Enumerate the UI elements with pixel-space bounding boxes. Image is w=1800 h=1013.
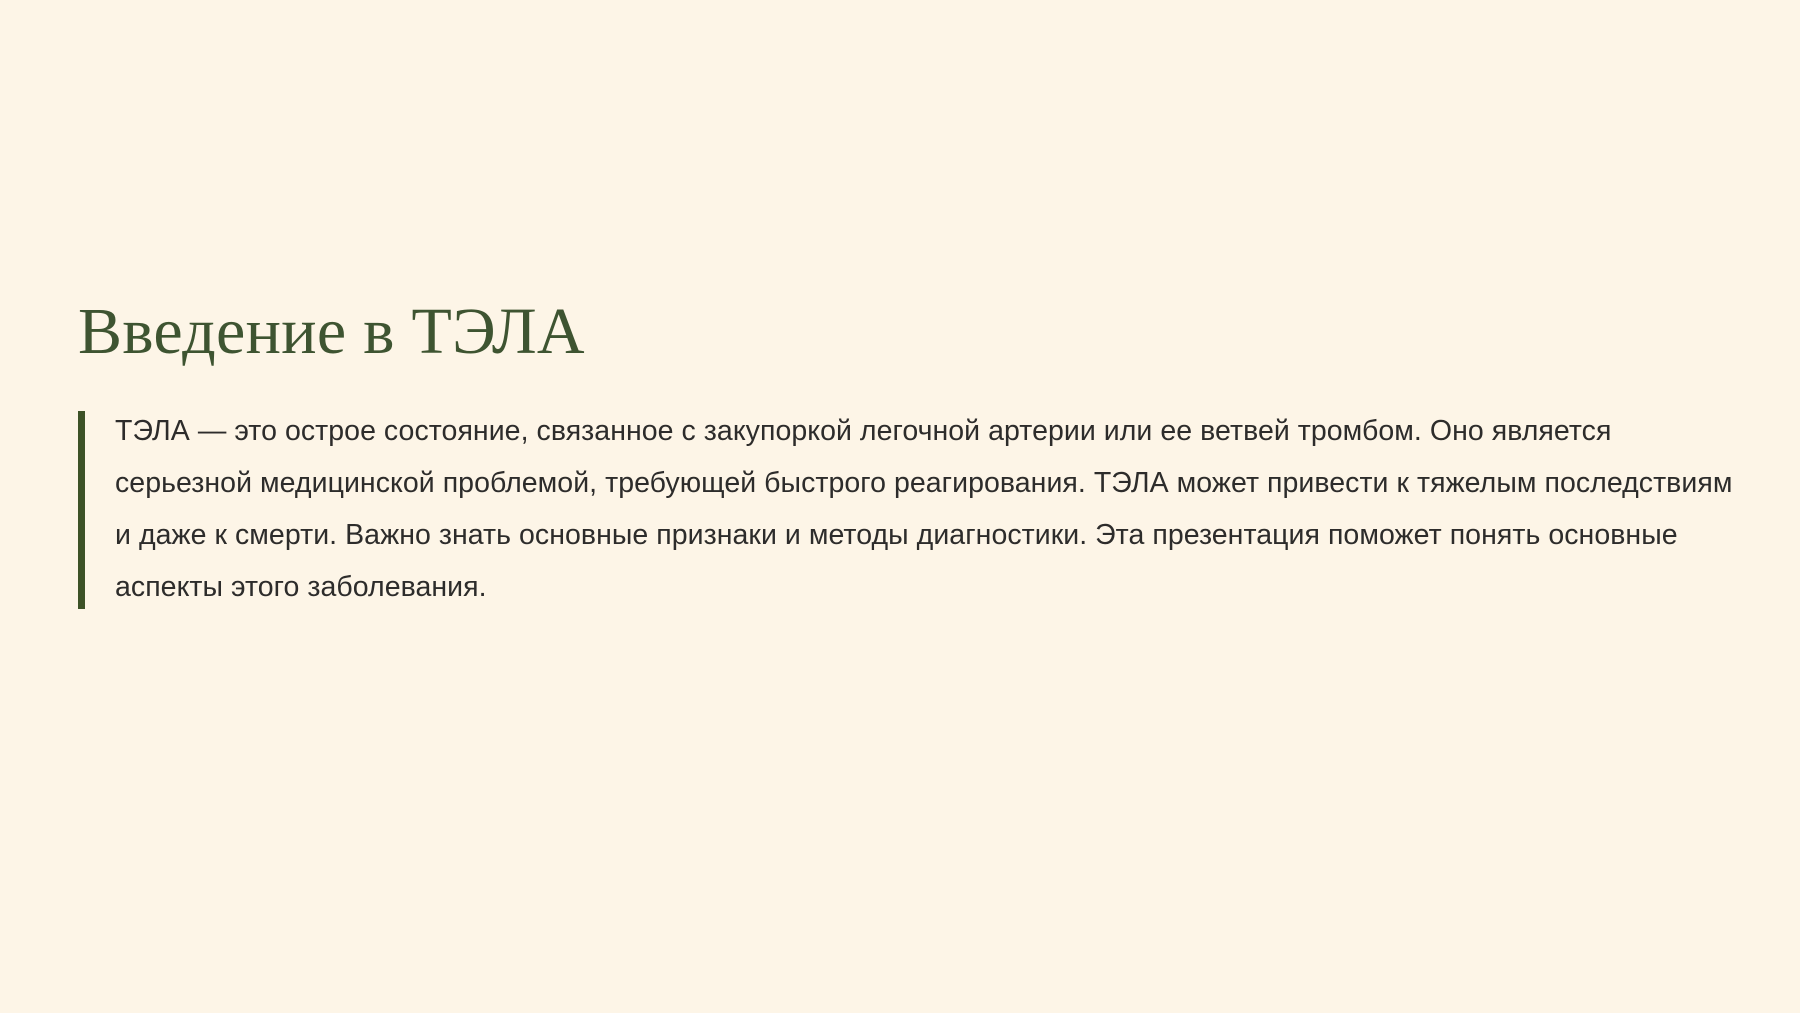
presentation-slide: Введение в ТЭЛА ТЭЛА — это острое состоя… [0,0,1800,1013]
slide-content: Введение в ТЭЛА ТЭЛА — это острое состоя… [78,296,1738,613]
accent-bar [78,411,85,609]
body-paragraph: ТЭЛА — это острое состояние, связанное с… [115,405,1738,613]
body-text-block: ТЭЛА — это острое состояние, связанное с… [78,405,1738,613]
page-title: Введение в ТЭЛА [78,296,1738,367]
